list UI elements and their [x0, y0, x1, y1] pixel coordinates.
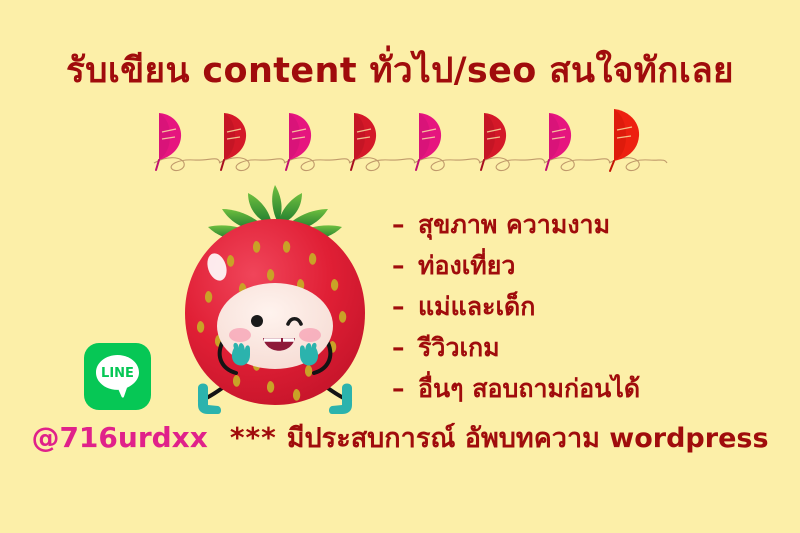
- promo-poster: รับเขียน content ทั่วไป/seo สนใจทักเลย: [0, 0, 800, 533]
- squiggle-icon: [544, 158, 610, 171]
- boot-right-icon: [329, 384, 352, 415]
- squiggle-icon: [219, 158, 285, 171]
- bullet-dash-icon: –: [392, 212, 418, 237]
- line-logo-icon[interactable]: LINE: [84, 343, 151, 410]
- list-item-label: รีวิวเกม: [418, 335, 500, 360]
- squiggle-icon: [349, 158, 415, 171]
- line-app-badge[interactable]: LINE: [84, 343, 151, 410]
- cheek-left: [229, 328, 251, 342]
- strawberry-mascot-illustration: [160, 183, 390, 438]
- boot-left-icon: [198, 384, 221, 415]
- feather-icon: [610, 109, 639, 171]
- bullet-dash-icon: –: [392, 294, 418, 319]
- list-item-label: ท่องเที่ยว: [418, 253, 515, 278]
- list-item-label: แม่และเด็ก: [418, 294, 535, 319]
- list-item: – แม่และเด็ก: [392, 294, 792, 335]
- list-item-label: อื่นๆ สอบถามก่อนได้: [418, 376, 640, 401]
- squiggle-icon: [414, 158, 480, 171]
- bullet-dash-icon: –: [392, 253, 418, 278]
- services-list: – สุขภาพ ความงาม – ท่องเที่ยว – แม่และเด…: [392, 212, 792, 417]
- line-handle[interactable]: @716urdxx: [31, 424, 207, 452]
- strawberry-svg: [160, 183, 390, 438]
- stars-decoration: ***: [230, 424, 277, 452]
- page-title: รับเขียน content ทั่วไป/seo สนใจทักเลย: [0, 52, 800, 91]
- bullet-dash-icon: –: [392, 376, 418, 401]
- eye-left-icon: [251, 315, 263, 327]
- footer-bar: @716urdxx *** มีประสบการณ์ อัพบทความ wor…: [0, 424, 800, 452]
- bullet-dash-icon: –: [392, 335, 418, 360]
- squiggle-icon: [154, 158, 220, 171]
- list-item: – สุขภาพ ความงาม: [392, 212, 792, 253]
- feather-row-svg: [148, 103, 668, 175]
- squiggle-icon: [284, 158, 350, 171]
- line-wordmark: LINE: [101, 366, 134, 381]
- cheek-right: [299, 328, 321, 342]
- list-item: – รีวิวเกม: [392, 335, 792, 376]
- list-item: – ท่องเที่ยว: [392, 253, 792, 294]
- feather-decoration-strip: [148, 103, 668, 175]
- list-item-label: สุขภาพ ความงาม: [418, 212, 610, 237]
- footer-note: มีประสบการณ์ อัพบทความ wordpress: [287, 425, 769, 452]
- squiggle-icon: [479, 158, 545, 171]
- list-item: – อื่นๆ สอบถามก่อนได้: [392, 376, 792, 417]
